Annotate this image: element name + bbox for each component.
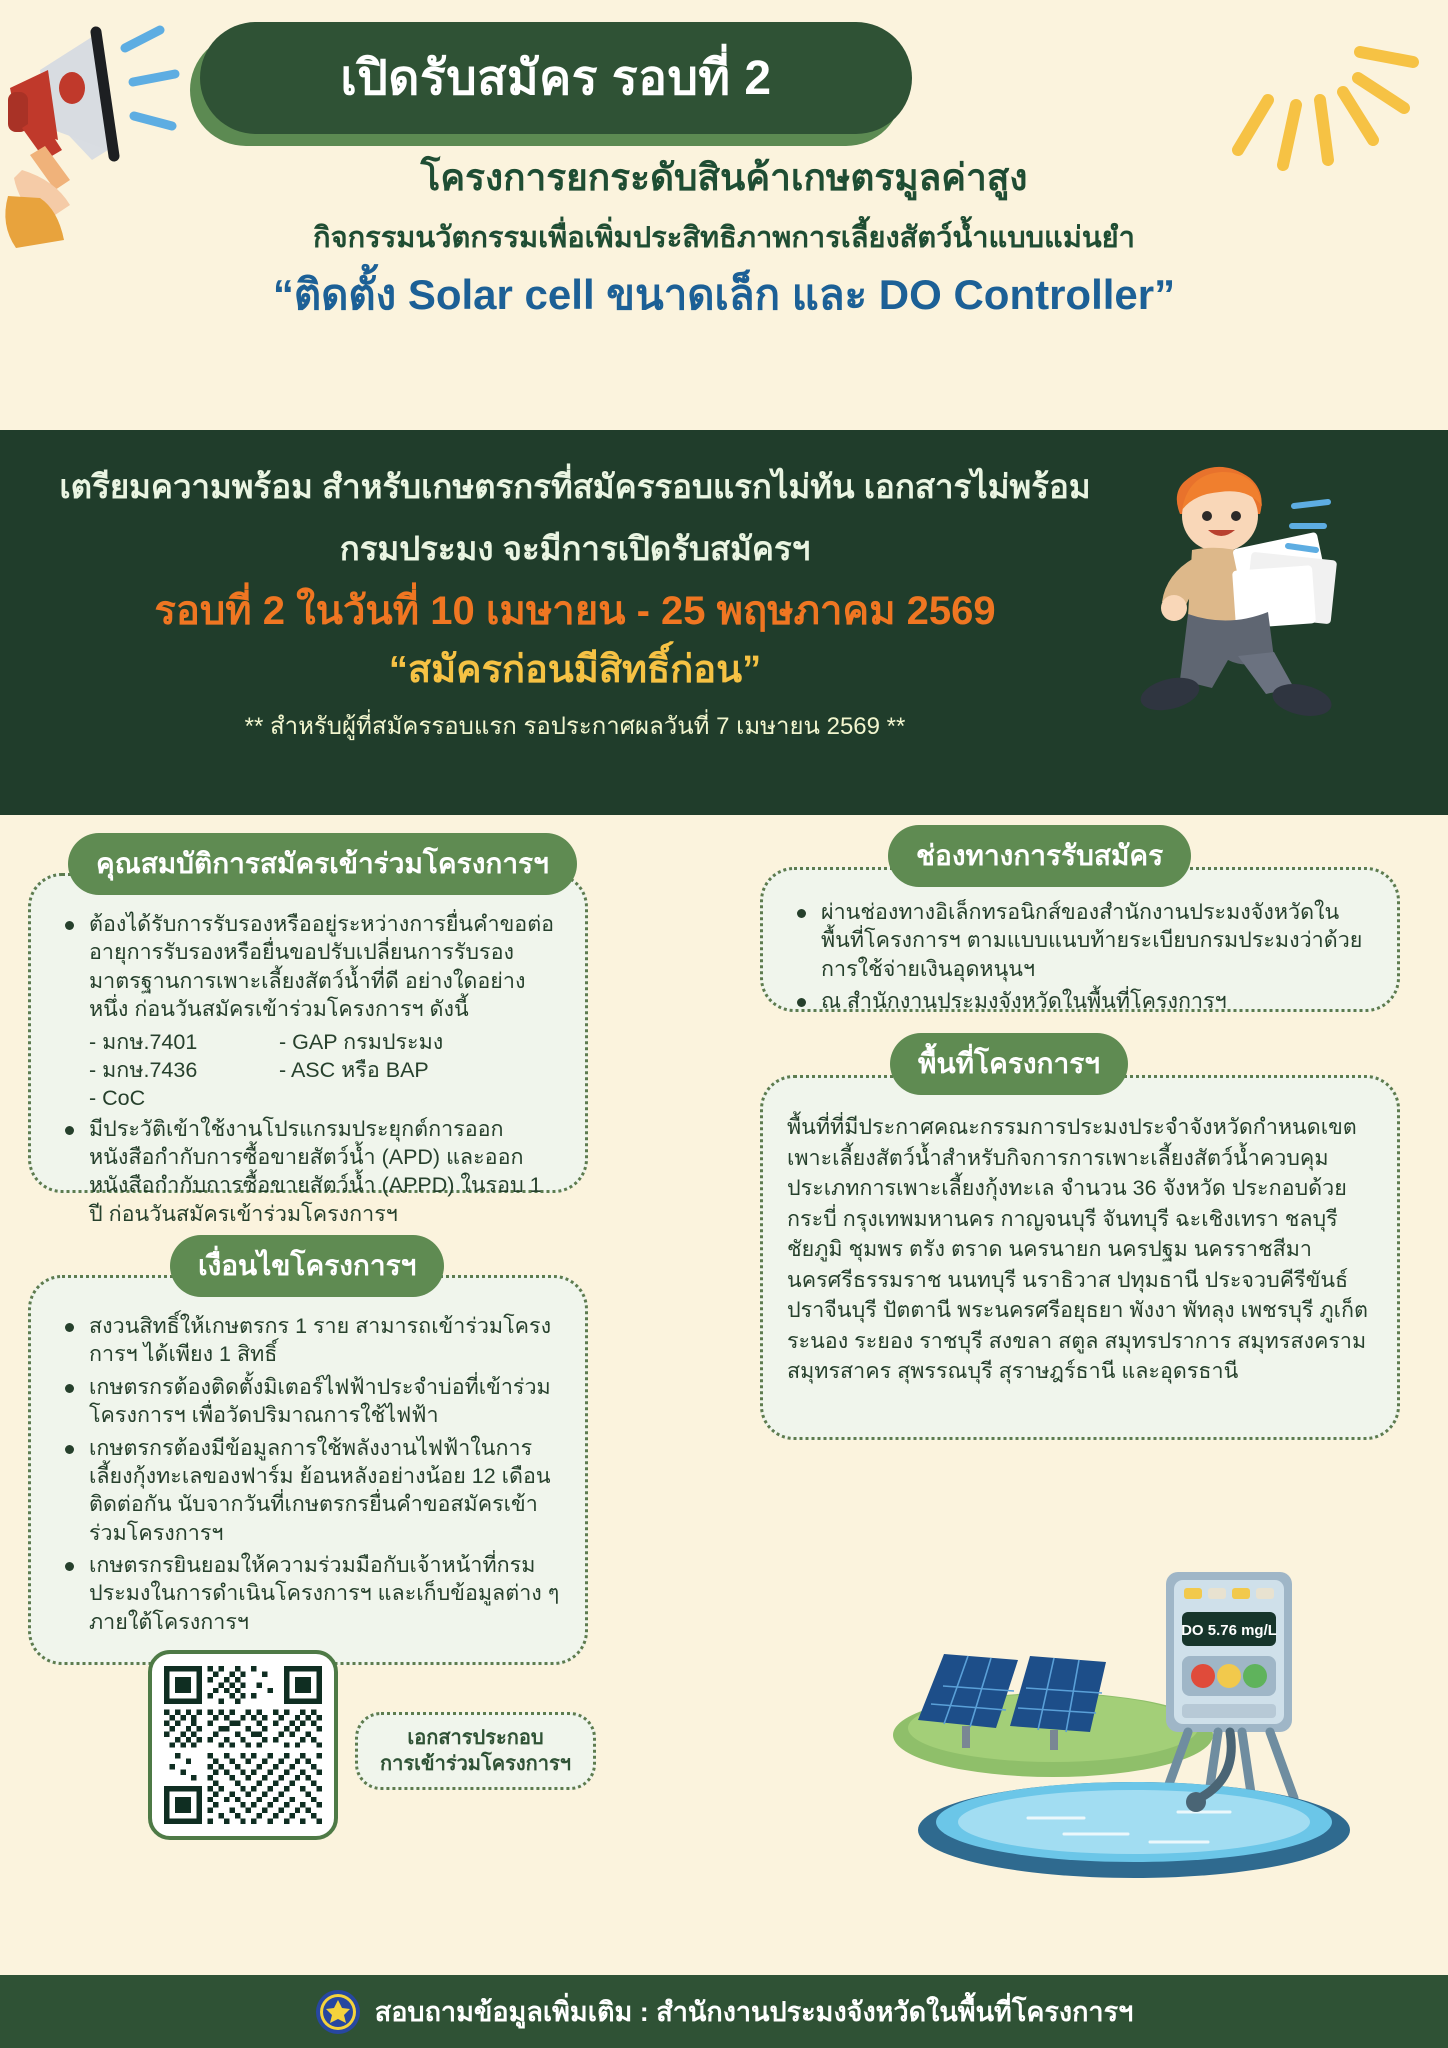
qr-code-icon[interactable] — [164, 1666, 322, 1824]
announcement-banner: เตรียมความพร้อม สำหรับเกษตรกรที่สมัครรอบ… — [0, 430, 1448, 815]
content-area: คุณสมบัติการสมัครเข้าร่วมโครงการฯ ต้องได… — [0, 815, 1448, 1975]
standard-row: - มกษ.7436 - ASC หรือ BAP — [89, 1056, 561, 1084]
qr-code-label: เอกสารประกอบ การเข้าร่วมโครงการฯ — [355, 1712, 596, 1790]
channel-item-1: ผ่านช่องทางอิเล็กทรอนิกส์ของสำนักงานประม… — [787, 898, 1373, 983]
standard-right-2: - ASC หรือ BAP — [279, 1056, 429, 1084]
qr-code-container[interactable] — [148, 1650, 338, 1840]
areas-title: พื้นที่โครงการฯ — [918, 1042, 1100, 1086]
qr-label-line-2: การเข้าร่วมโครงการฯ — [380, 1751, 571, 1777]
do-controller-cabinet: DO 5.76 mg/L — [1166, 1572, 1292, 1732]
channel-item-2: ณ สำนักงานประมงจังหวัดในพื้นที่โครงการฯ — [787, 987, 1373, 1015]
poster-header: เปิดรับสมัคร รอบที่ 2 โครงการยกระดับสินค… — [0, 0, 1448, 430]
banner-line-1: เตรียมความพร้อม สำหรับเกษตรกรที่สมัครรอบ… — [0, 460, 1150, 513]
qualifications-list: ต้องได้รับการรับรองหรืออยู่ระหว่างการยื่… — [55, 910, 561, 1024]
qr-label-line-1: เอกสารประกอบ — [380, 1725, 571, 1751]
qualifications-list-2: มีประวัติเข้าใช้งานโปรแกรมประยุกต์การออก… — [55, 1115, 561, 1229]
pond — [918, 1782, 1350, 1878]
standard-right-1: - GAP กรมประมง — [279, 1028, 443, 1056]
condition-item-2: เกษตรกรต้องติดตั้งมิเตอร์ไฟฟ้าประจำบ่อที… — [55, 1373, 561, 1430]
areas-card-header: พื้นที่โครงการฯ — [890, 1033, 1128, 1095]
standard-left-3: - CoC — [89, 1084, 279, 1112]
running-person-illustration — [1088, 444, 1388, 744]
standard-left-1: - มกษ.7401 — [89, 1028, 279, 1056]
registration-date-range: รอบที่ 2 ในวันที่ 10 เมษายน - 25 พฤษภาคม… — [0, 578, 1150, 642]
areas-card: พื้นที่ที่มีประกาศคณะกรรมการประมงประจำจั… — [760, 1075, 1400, 1440]
project-subtitle: โครงการยกระดับสินค้าเกษตรมูลค่าสูง — [0, 148, 1448, 207]
condition-item-1: สงวนสิทธิ์ให้เกษตรกร 1 ราย สามารถเข้าร่ว… — [55, 1312, 561, 1369]
channels-list: ผ่านช่องทางอิเล็กทรอนิกส์ของสำนักงานประม… — [787, 898, 1373, 1016]
qualification-item-1: ต้องได้รับการรับรองหรืออยู่ระหว่างการยื่… — [55, 910, 561, 1024]
standard-row: - CoC — [89, 1084, 561, 1112]
department-of-fisheries-seal-icon — [315, 1989, 361, 2035]
conditions-card: สงวนสิทธิ์ให้เกษตรกร 1 ราย สามารถเข้าร่ว… — [28, 1275, 588, 1665]
solution-subtitle: “ติดตั้ง Solar cell ขนาดเล็ก และ DO Cont… — [0, 262, 1448, 328]
qualifications-title: คุณสมบัติการสมัครเข้าร่วมโครงการฯ — [96, 842, 549, 886]
main-title: เปิดรับสมัคร รอบที่ 2 — [340, 40, 771, 116]
banner-footnote: ** สำหรับผู้ที่สมัครรอบแรก รอประกาศผลวัน… — [0, 706, 1150, 745]
condition-item-3: เกษตรกรต้องมีข้อมูลการใช้พลังงานไฟฟ้าในก… — [55, 1434, 561, 1548]
areas-body-text: พื้นที่ที่มีประกาศคณะกรรมการประมงประจำจั… — [787, 1112, 1373, 1387]
conditions-list: สงวนสิทธิ์ให้เกษตรกร 1 ราย สามารถเข้าร่ว… — [55, 1312, 561, 1636]
conditions-card-header: เงื่อนไขโครงการฯ — [170, 1235, 444, 1297]
channels-card: ผ่านช่องทางอิเล็กทรอนิกส์ของสำนักงานประม… — [760, 867, 1400, 1012]
standard-left-2: - มกษ.7436 — [89, 1056, 279, 1084]
conditions-title: เงื่อนไขโครงการฯ — [198, 1244, 416, 1288]
main-title-pill: เปิดรับสมัคร รอบที่ 2 — [200, 22, 912, 134]
banner-line-2: กรมประมง จะมีการเปิดรับสมัครฯ — [0, 522, 1150, 575]
qualifications-card-header: คุณสมบัติการสมัครเข้าร่วมโครงการฯ — [68, 833, 577, 895]
solar-do-controller-illustration: DO 5.76 mg/L — [878, 1550, 1408, 1880]
standards-list: - มกษ.7401 - GAP กรมประมง - มกษ.7436 - A… — [55, 1028, 561, 1113]
footer-contact-text: สอบถามข้อมูลเพิ่มเติม : สำนักงานประมงจัง… — [375, 1990, 1134, 2033]
banner-slogan: “สมัครก่อนมีสิทธิ์ก่อน” — [0, 638, 1150, 699]
condition-item-4: เกษตรกรยินยอมให้ความร่วมมือกับเจ้าหน้าที… — [55, 1551, 561, 1636]
footer-bar: สอบถามข้อมูลเพิ่มเติม : สำนักงานประมงจัง… — [0, 1975, 1448, 2048]
qualification-item-2: มีประวัติเข้าใช้งานโปรแกรมประยุกต์การออก… — [55, 1115, 561, 1229]
qualifications-card: ต้องได้รับการรับรองหรืออยู่ระหว่างการยื่… — [28, 873, 588, 1193]
standard-row: - มกษ.7401 - GAP กรมประมง — [89, 1028, 561, 1056]
channels-title: ช่องทางการรับสมัคร — [916, 834, 1163, 878]
channels-card-header: ช่องทางการรับสมัคร — [888, 825, 1191, 887]
activity-subtitle: กิจกรรมนวัตกรรมเพื่อเพิ่มประสิทธิภาพการเ… — [0, 214, 1448, 260]
do-readout-text: DO 5.76 mg/L — [1181, 1622, 1277, 1639]
